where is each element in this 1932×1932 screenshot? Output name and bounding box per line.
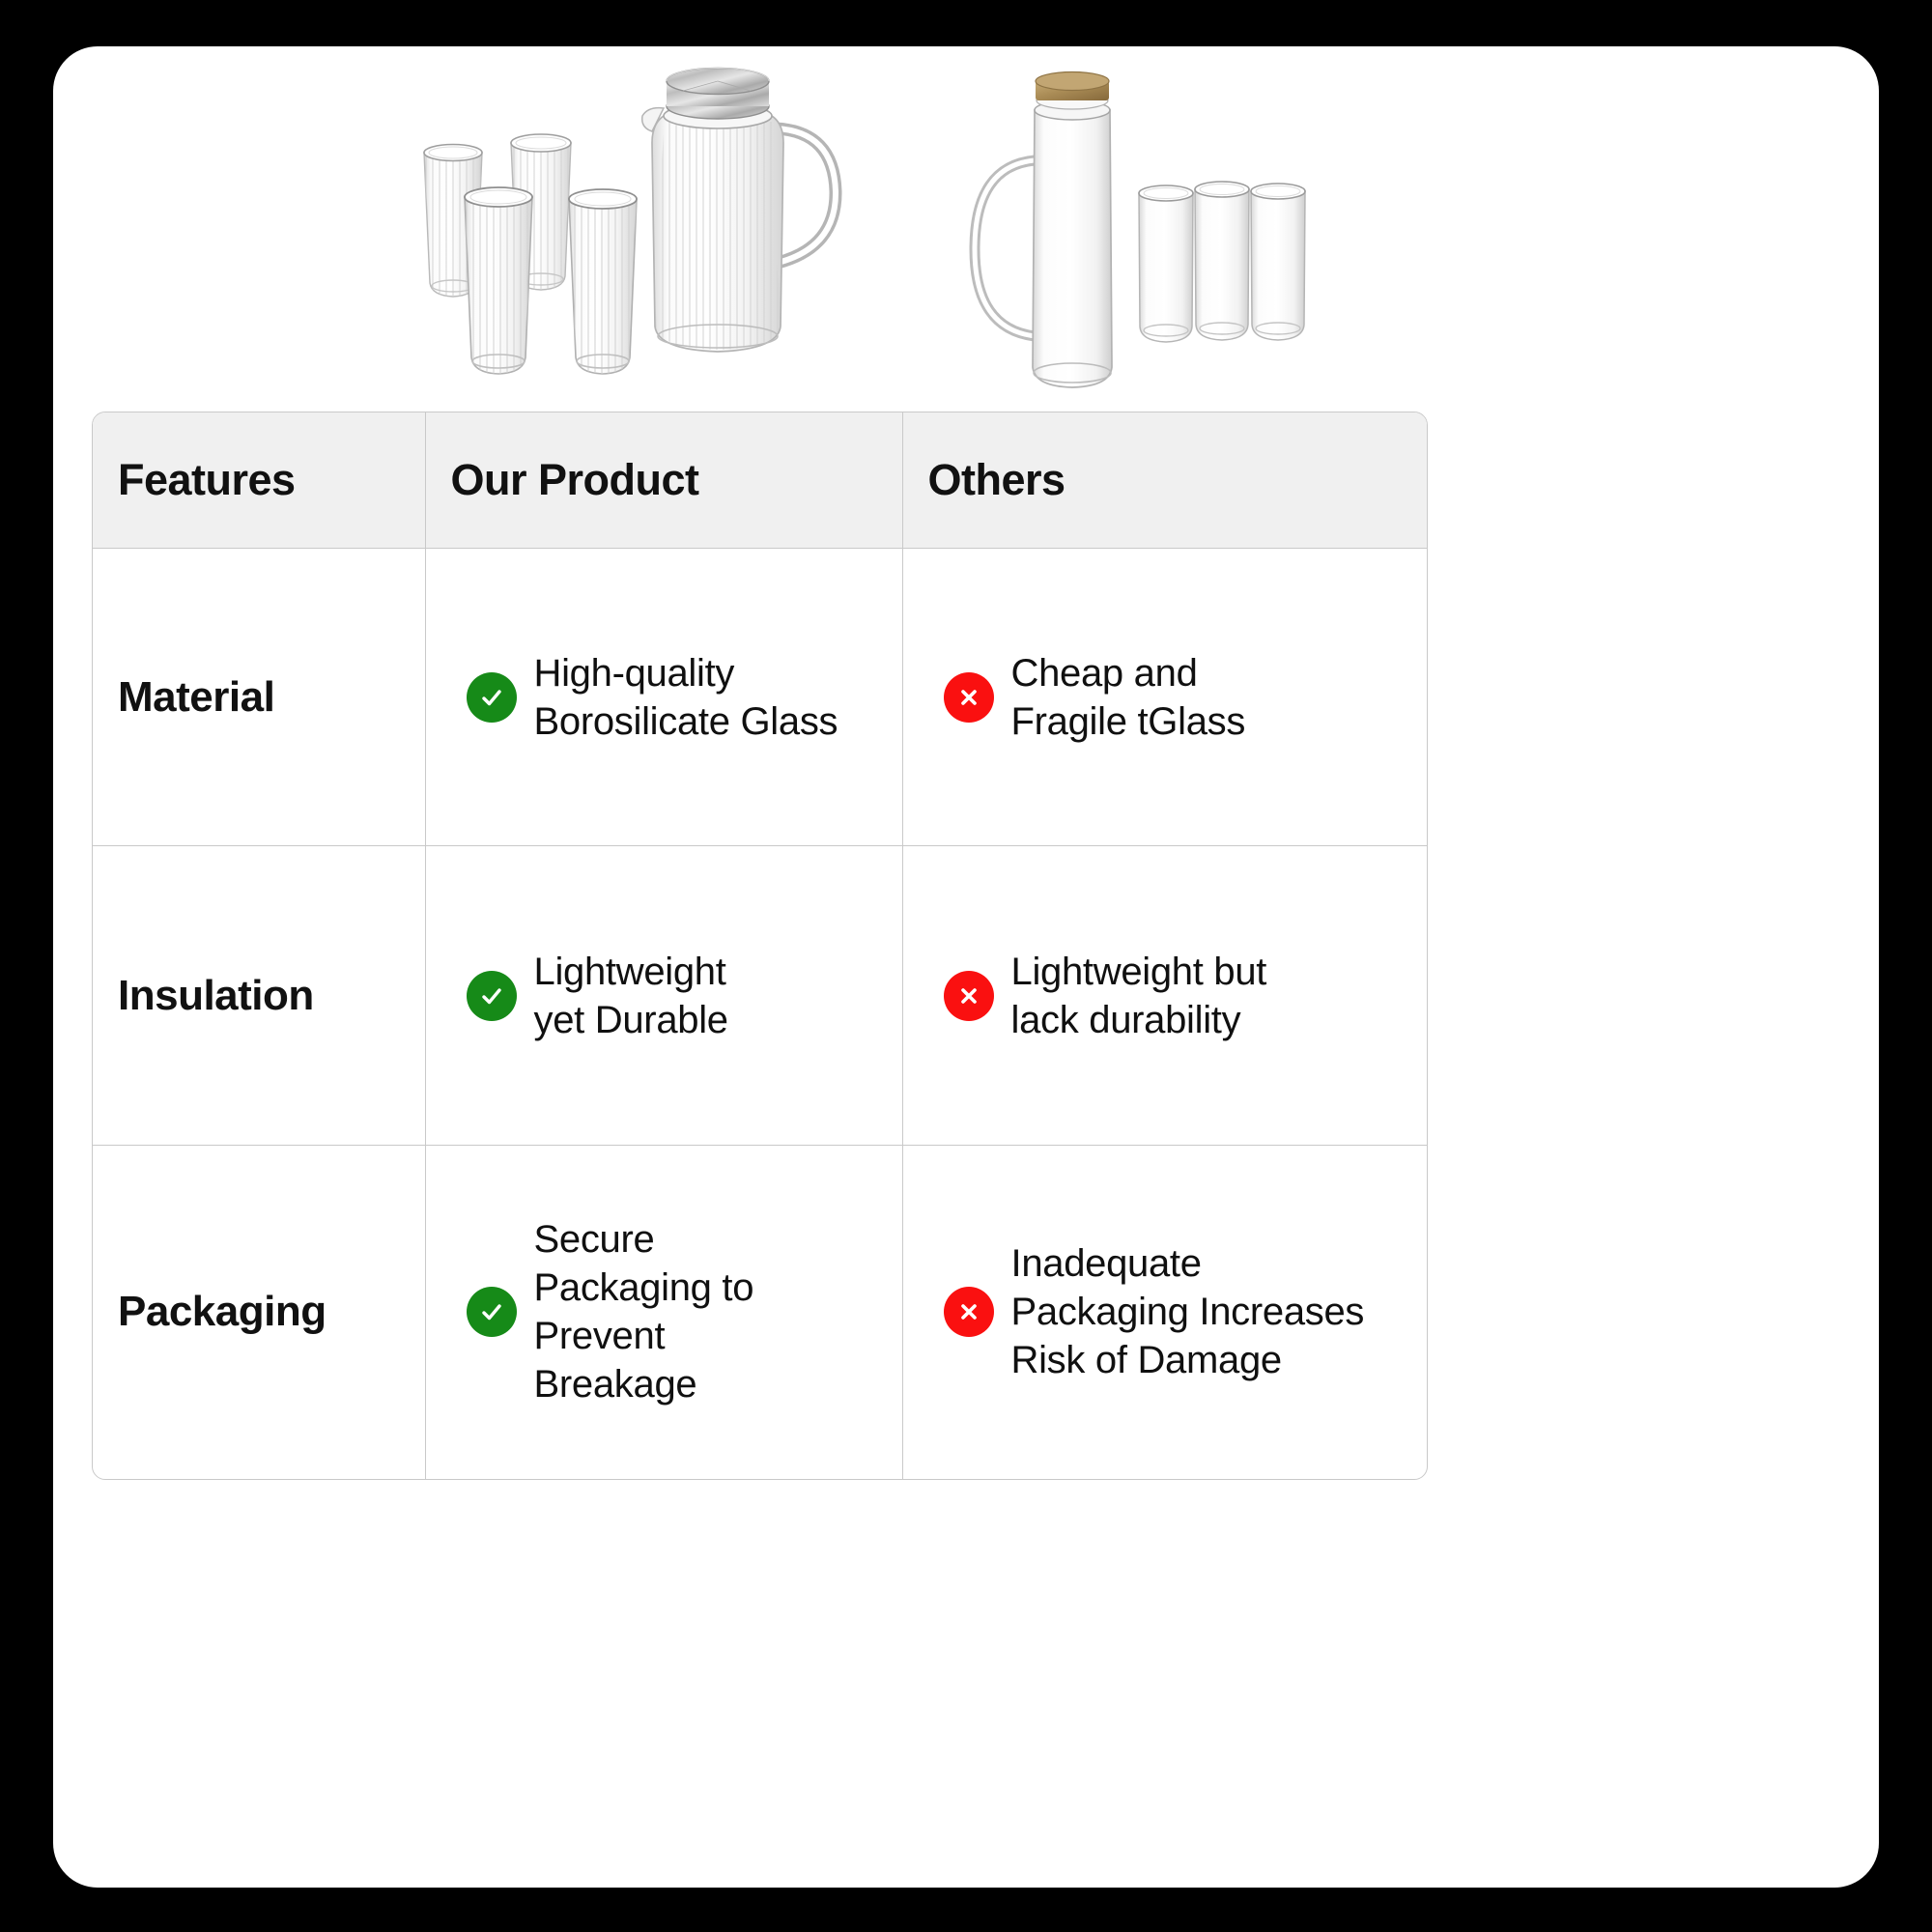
- table-header-row: Features Our Product Others: [93, 412, 1428, 549]
- x-circle-icon: [944, 971, 994, 1021]
- others-material-cell: Cheap and Fragile tGlass: [902, 549, 1428, 846]
- others-packaging-text: Inadequate Packaging Increases Risk of D…: [1011, 1239, 1365, 1384]
- our-product-packaging-text: Secure Packaging to Prevent Breakage: [534, 1215, 754, 1408]
- feature-label-material: Material: [93, 549, 425, 846]
- our-product-insulation-cell: Lightweight yet Durable: [425, 846, 902, 1146]
- our-product-insulation-text: Lightweight yet Durable: [534, 948, 728, 1044]
- tumbler-front-right: [569, 189, 637, 374]
- column-header-features: Features: [93, 412, 425, 549]
- our-product-material-text: High-quality Borosilicate Glass: [534, 649, 838, 746]
- table-row: Packaging Secure Packaging to Prevent Br…: [93, 1146, 1428, 1479]
- comparison-table: Features Our Product Others Material: [92, 412, 1428, 1480]
- check-circle-icon: [467, 971, 517, 1021]
- our-product-image: [411, 46, 913, 433]
- others-insulation-cell: Lightweight but lack durability: [902, 846, 1428, 1146]
- column-header-others: Others: [902, 412, 1428, 549]
- check-circle-icon: [467, 672, 517, 723]
- others-tumbler-3: [1251, 184, 1305, 340]
- our-product-material-cell: High-quality Borosilicate Glass: [425, 549, 902, 846]
- others-carafe: [975, 72, 1112, 388]
- others-tumbler-1: [1139, 185, 1193, 342]
- x-circle-icon: [944, 1287, 994, 1337]
- others-product-image: [942, 46, 1396, 433]
- table-row: Insulation Lightweight yet Durable: [93, 846, 1428, 1146]
- x-circle-icon: [944, 672, 994, 723]
- tumbler-front-left: [465, 187, 532, 374]
- others-insulation-text: Lightweight but lack durability: [1011, 948, 1267, 1044]
- our-pitcher: [642, 69, 836, 353]
- our-product-packaging-cell: Secure Packaging to Prevent Breakage: [425, 1146, 902, 1479]
- feature-label-packaging: Packaging: [93, 1146, 425, 1479]
- table-row: Material High-quality Borosilicate Glass: [93, 549, 1428, 846]
- others-material-text: Cheap and Fragile tGlass: [1011, 649, 1246, 746]
- others-tumbler-2: [1195, 182, 1249, 340]
- column-header-our-product: Our Product: [425, 412, 902, 549]
- check-circle-icon: [467, 1287, 517, 1337]
- others-packaging-cell: Inadequate Packaging Increases Risk of D…: [902, 1146, 1428, 1479]
- comparison-card: Features Our Product Others Material: [53, 46, 1879, 1888]
- feature-label-insulation: Insulation: [93, 846, 425, 1146]
